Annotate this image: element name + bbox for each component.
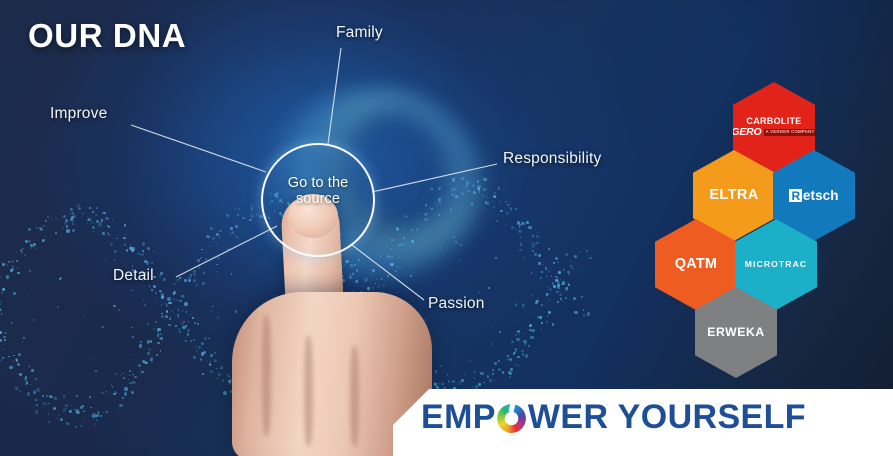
node-label-passion[interactable]: Passion bbox=[428, 295, 485, 313]
node-label-responsibility[interactable]: Responsibility bbox=[503, 150, 601, 168]
slide-canvas: OUR DNA Go to the source Family Improve … bbox=[0, 0, 893, 456]
bottom-banner: EMP WER YOURSELF bbox=[393, 389, 893, 456]
node-label-family[interactable]: Family bbox=[336, 24, 383, 42]
hub-label-line1: Go to the bbox=[288, 175, 349, 191]
node-label-improve[interactable]: Improve bbox=[50, 105, 107, 123]
page-title: OUR DNA bbox=[28, 17, 186, 55]
node-label-detail[interactable]: Detail bbox=[113, 267, 154, 285]
retsch-initial: R bbox=[789, 189, 802, 202]
brand-label-qatm: QATM bbox=[675, 257, 717, 272]
brand-hexagon-cluster: CARBOLITE GERO A VERDER COMPANY ELTRA R … bbox=[655, 82, 893, 372]
carbolite-line2: GERO bbox=[731, 127, 761, 138]
banner-text-before: EMP bbox=[421, 400, 496, 434]
banner-text-after: WER YOURSELF bbox=[528, 400, 806, 434]
brand-label-erweka: ERWEKA bbox=[707, 326, 765, 338]
brand-label-eltra: ELTRA bbox=[709, 188, 758, 203]
brand-label-microtrac: MICROTRAC bbox=[745, 260, 807, 269]
carbolite-line1: CARBOLITE bbox=[731, 117, 816, 126]
hub-label: Go to the source bbox=[288, 175, 349, 208]
brand-label-carbolite: CARBOLITE GERO A VERDER COMPANY bbox=[731, 117, 816, 138]
retsch-rest: etsch bbox=[803, 189, 839, 203]
carbolite-badge: A VERDER COMPANY bbox=[764, 129, 817, 136]
rainbow-ring-logo-icon bbox=[497, 404, 526, 433]
banner-content: EMP WER YOURSELF bbox=[421, 400, 806, 434]
brand-label-retsch: R etsch bbox=[789, 189, 838, 203]
hub-circle[interactable]: Go to the source bbox=[261, 143, 375, 257]
hub-label-line2: source bbox=[296, 191, 340, 207]
